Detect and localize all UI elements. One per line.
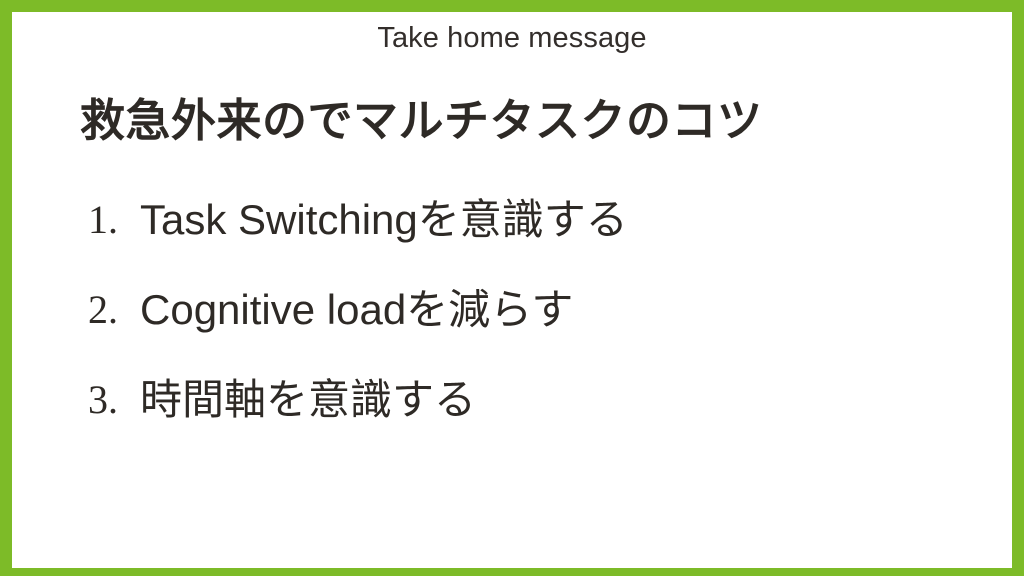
list-item: 1. Task Switchingを意識する <box>78 192 978 282</box>
takeaway-list: 1. Task Switchingを意識する 2. Cognitive load… <box>78 192 978 462</box>
list-item-label: Cognitive loadを減らす <box>140 282 573 338</box>
slide-frame: Take home message 救急外来のでマルチタスクのコツ 1. Tas… <box>0 0 1024 576</box>
page-title: Take home message <box>12 20 1012 56</box>
list-item-label: Task Switchingを意識する <box>140 192 628 248</box>
list-item: 3. 時間軸を意識する <box>78 372 978 462</box>
list-item-number: 2. <box>78 282 140 338</box>
list-item-number: 1. <box>78 192 140 248</box>
slide-heading: 救急外来のでマルチタスクのコツ <box>80 92 763 151</box>
list-item-number: 3. <box>78 372 140 428</box>
list-item: 2. Cognitive loadを減らす <box>78 282 978 372</box>
slide-content-area: Take home message 救急外来のでマルチタスクのコツ 1. Tas… <box>12 12 1012 568</box>
list-item-label: 時間軸を意識する <box>140 372 476 428</box>
